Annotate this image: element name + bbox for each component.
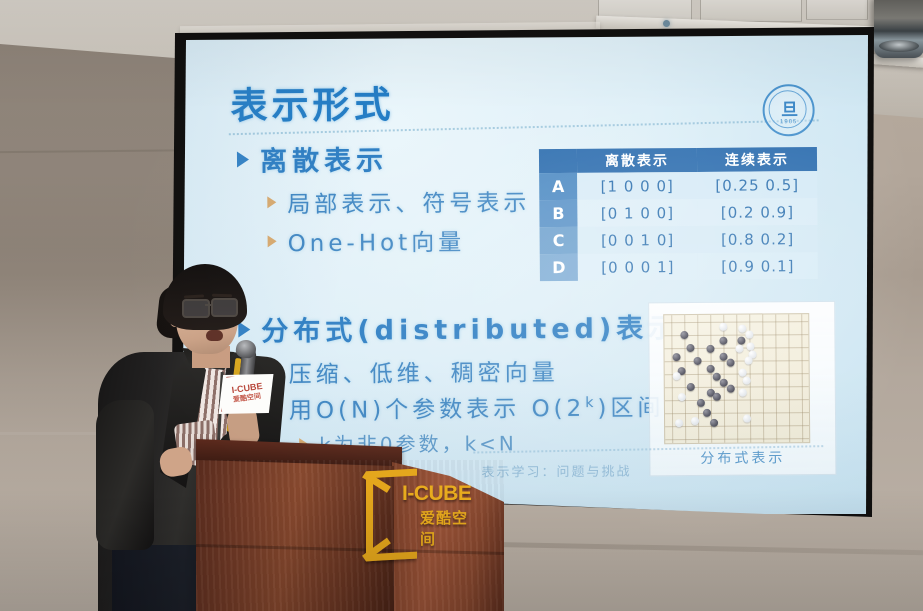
triangle-bullet-icon (237, 151, 249, 167)
exponent-k: k (585, 395, 597, 411)
bullet-text: 局部表示、符号表示 (287, 183, 530, 219)
podium-brand: I-CUBE (402, 482, 471, 506)
triangle-bullet-icon (267, 196, 276, 208)
seal-glyph: 旦 (776, 98, 802, 122)
bullet-text: 用O(N)个参数表示 O(2 (289, 396, 585, 424)
row-label: B (539, 200, 577, 227)
slide-footer: 表示学习：问题与挑战 (481, 460, 631, 480)
presentation-photo: 表示形式 离散表示 局部表示、符号表示 One-Hot向量 分布式(distri… (0, 0, 923, 611)
seal-year: 1905 (765, 119, 813, 125)
figure-caption: 分布式表示 (650, 447, 835, 468)
speaker-eyebrow-right (212, 294, 232, 298)
bullet-text: 离散表示 (260, 138, 388, 178)
row-label: D (540, 254, 578, 281)
ceiling-sensor-light (663, 20, 670, 27)
bullet-discrete: 离散表示 (237, 138, 388, 178)
table-header-discrete: 离散表示 (577, 148, 697, 173)
bullet-text: 分布式(distributed)表示 (261, 306, 680, 348)
row-label: A (539, 173, 577, 200)
cell-continuous: [0.9 0.1] (698, 252, 818, 280)
table-row: B [0 1 0 0] [0.2 0.9] (539, 198, 817, 227)
triangle-bullet-icon (268, 235, 277, 247)
table-row: D [0 0 0 1] [0.9 0.1] (540, 252, 818, 281)
podium-logo: I-CUBE 爱酷空间 (364, 462, 480, 554)
speaker-glasses-bridge (205, 304, 212, 306)
row-label: C (540, 227, 578, 254)
cell-discrete: [0 0 0 1] (578, 253, 698, 281)
table-corner-cell (539, 149, 577, 173)
speaker-glasses-right-lens (211, 298, 238, 317)
table-header-continuous: 连续表示 (697, 147, 817, 172)
table-row: A [1 0 0 0] [0.25 0.5] (539, 171, 817, 200)
bullet-local-symbolic: 局部表示、符号表示 (267, 183, 530, 219)
representation-table: 离散表示 连续表示 A [1 0 0 0] [0.25 0.5] B [0 1 … (539, 147, 818, 281)
ceiling-panel (700, 0, 802, 22)
bullet-distributed: 分布式(distributed)表示 (238, 306, 680, 348)
speaker-mouth (206, 330, 223, 341)
cell-discrete: [0 0 1 0] (578, 226, 698, 254)
cell-continuous: [0.8 0.2] (698, 225, 818, 253)
bullet-compressed: 压缩、低维、稠密向量 (269, 353, 559, 389)
bullet-parameter-count: 用O(N)个参数表示 O(2k)区间 (289, 388, 665, 425)
cell-continuous: [0.2 0.9] (697, 198, 817, 226)
bullet-text: One-Hot向量 (287, 223, 465, 258)
speaker-glasses-left-lens (182, 299, 210, 318)
projector-lens (879, 40, 919, 52)
table-header-row: 离散表示 连续表示 (539, 147, 817, 173)
figure-card: 分布式表示 (648, 301, 836, 476)
bullet-text: 压缩、低维、稠密向量 (289, 353, 559, 389)
cell-discrete: [1 0 0 0] (577, 172, 697, 200)
ceiling-panel (806, 0, 868, 20)
cell-continuous: [0.25 0.5] (697, 171, 817, 199)
podium-brand-cn: 爱酷空间 (420, 507, 480, 549)
cell-discrete: [0 1 0 0] (577, 199, 697, 227)
university-seal-icon: 旦 1905 (762, 84, 814, 136)
ceiling-projector (874, 0, 923, 58)
go-board-image (663, 313, 810, 444)
table-row: C [0 0 1 0] [0.8 0.2] (540, 225, 818, 254)
slide-title: 表示形式 (230, 74, 394, 129)
bullet-one-hot: One-Hot向量 (267, 223, 465, 259)
speaker-arm-left (96, 400, 154, 550)
